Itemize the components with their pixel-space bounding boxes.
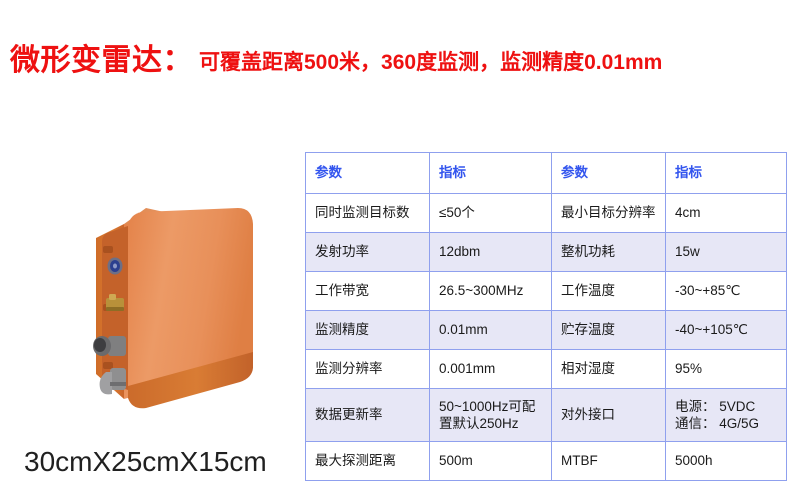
specification-table-container: 参数 指标 参数 指标 同时监测目标数 ≤50个 最小目标分辨率 4cm 发射功… [305,152,786,481]
table-cell-parameter: 同时监测目标数 [306,194,430,233]
table-cell-parameter: 工作温度 [552,272,666,311]
table-cell-parameter: 监测分辨率 [306,350,430,389]
table-cell-value: 26.5~300MHz [430,272,552,311]
table-row: 最大探测距离 500m MTBF 5000h [306,442,787,481]
radar-device-image [86,186,302,426]
table-cell-value: 50~1000Hz可配置默认250Hz [430,389,552,442]
table-cell-parameter: 最大探测距离 [306,442,430,481]
table-cell-value: 5000h [666,442,787,481]
page-title: 微形变雷达： 可覆盖距离500米，360度监测，监测精度0.01mm [10,46,662,76]
table-cell-parameter: 对外接口 [552,389,666,442]
metal-circular-connector-cap [94,338,106,352]
table-row: 同时监测目标数 ≤50个 最小目标分辨率 4cm [306,194,787,233]
page-title-main: 微形变雷达： [10,46,193,76]
blue-coaxial-connector-pin [113,264,117,269]
metal-cable-gland-body [110,368,126,390]
radar-device-illustration [86,186,302,426]
table-cell-parameter: 工作带宽 [306,272,430,311]
table-header-parameter-2: 参数 [552,153,666,194]
table-cell-value: 95% [666,350,787,389]
table-cell-value: -40~+105℃ [666,311,787,350]
table-cell-value: 电源： 5VDC 通信： 4G/5G [666,389,787,442]
table-row: 数据更新率 50~1000Hz可配置默认250Hz 对外接口 电源： 5VDC … [306,389,787,442]
table-row: 发射功率 12dbm 整机功耗 15w [306,233,787,272]
table-cell-value: 500m [430,442,552,481]
table-cell-value: 0.001mm [430,350,552,389]
table-header-spec-2: 指标 [666,153,787,194]
table-row: 监测分辨率 0.001mm 相对湿度 95% [306,350,787,389]
table-cell-parameter: 数据更新率 [306,389,430,442]
table-header-parameter-1: 参数 [306,153,430,194]
table-cell-parameter: 贮存温度 [552,311,666,350]
table-cell-value: 15w [666,233,787,272]
table-cell-value: -30~+85℃ [666,272,787,311]
table-cell-value: ≤50个 [430,194,552,233]
table-cell-parameter: 相对湿度 [552,350,666,389]
table-cell-value: 0.01mm [430,311,552,350]
device-mount-notch-top [103,246,113,253]
table-header-row: 参数 指标 参数 指标 [306,153,787,194]
specification-table: 参数 指标 参数 指标 同时监测目标数 ≤50个 最小目标分辨率 4cm 发射功… [305,152,787,481]
table-cell-parameter: MTBF [552,442,666,481]
table-cell-parameter: 监测精度 [306,311,430,350]
table-row: 监测精度 0.01mm 贮存温度 -40~+105℃ [306,311,787,350]
table-cell-parameter: 整机功耗 [552,233,666,272]
device-mount-notch-bottom [103,362,113,369]
table-header-spec-1: 指标 [430,153,552,194]
table-cell-parameter: 最小目标分辨率 [552,194,666,233]
table-cell-parameter: 发射功率 [306,233,430,272]
brass-connector-base [106,307,124,311]
page-title-subtitle: 可覆盖距离500米，360度监测，监测精度0.01mm [199,52,662,73]
table-cell-value: 12dbm [430,233,552,272]
device-dimensions-caption: 30cmX25cmX15cm [24,446,267,478]
table-row: 工作带宽 26.5~300MHz 工作温度 -30~+85℃ [306,272,787,311]
metal-cable-gland-ridge [110,382,126,386]
brass-connector-cap [109,294,116,300]
table-cell-value: 4cm [666,194,787,233]
